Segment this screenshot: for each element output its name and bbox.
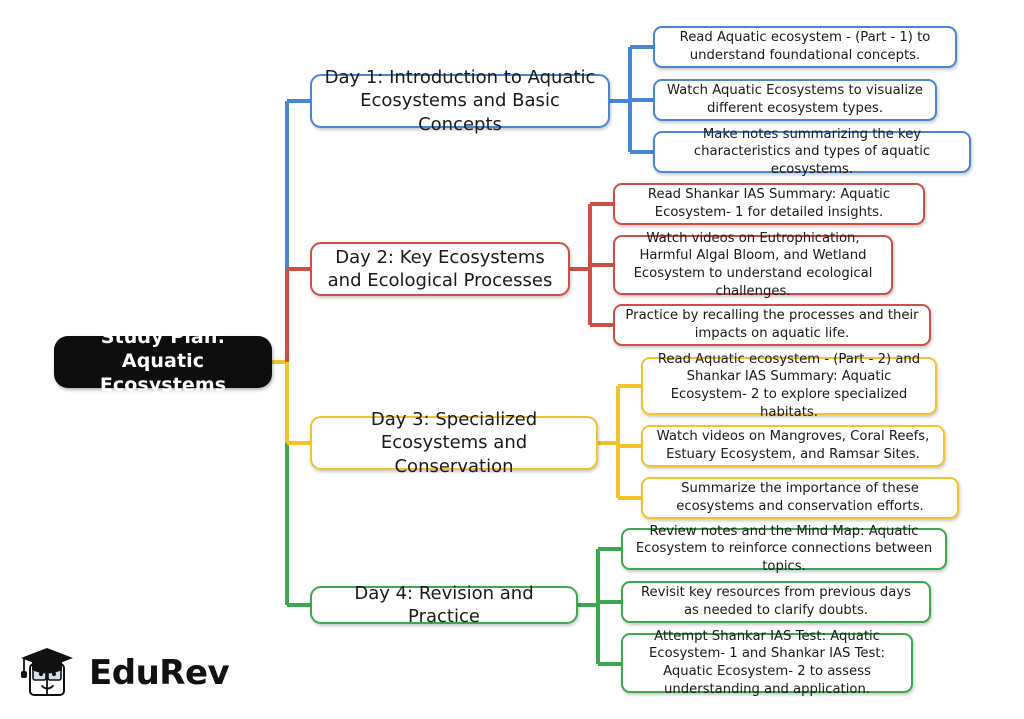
leaf-node-day-2-task-3[interactable]: Practice by recalling the processes and … bbox=[613, 304, 931, 346]
leaf-node-day-1-task-2[interactable]: Watch Aquatic Ecosystems to visualize di… bbox=[653, 79, 937, 121]
leaf-node-day-4-task-2[interactable]: Revisit key resources from previous days… bbox=[621, 581, 931, 623]
branch-node-day-1[interactable]: Day 1: Introduction to Aquatic Ecosystem… bbox=[310, 74, 610, 128]
branch-node-day-3[interactable]: Day 3: Specialized Ecosystems and Conser… bbox=[310, 416, 598, 470]
leaf-node-day-1-task-1[interactable]: Read Aquatic ecosystem - (Part - 1) to u… bbox=[653, 26, 957, 68]
leaf-node-day-2-task-1[interactable]: Read Shankar IAS Summary: Aquatic Ecosys… bbox=[613, 183, 925, 225]
leaf-node-day-3-task-3[interactable]: Summarize the importance of these ecosys… bbox=[641, 477, 959, 519]
leaf-node-day-1-task-3[interactable]: Make notes summarizing the key character… bbox=[653, 131, 971, 173]
leaf-node-day-3-task-2[interactable]: Watch videos on Mangroves, Coral Reefs, … bbox=[641, 425, 945, 467]
branch-node-day-2[interactable]: Day 2: Key Ecosystems and Ecological Pro… bbox=[310, 242, 570, 296]
graduation-cap-book-icon bbox=[18, 642, 80, 704]
leaf-node-day-3-task-1[interactable]: Read Aquatic ecosystem - (Part - 2) and … bbox=[641, 357, 937, 415]
branch-node-day-4[interactable]: Day 4: Revision and Practice bbox=[310, 586, 578, 624]
root-node[interactable]: Study Plan: Aquatic Ecosystems bbox=[54, 336, 272, 388]
edurev-logo[interactable]: EduRev bbox=[18, 642, 229, 704]
mindmap-canvas: Study Plan: Aquatic Ecosystems Day 1: In… bbox=[0, 0, 1024, 719]
edurev-wordmark: EduRev bbox=[89, 656, 229, 690]
leaf-node-day-2-task-2[interactable]: Watch videos on Eutrophication, Harmful … bbox=[613, 235, 893, 295]
leaf-node-day-4-task-1[interactable]: Review notes and the Mind Map: Aquatic E… bbox=[621, 528, 947, 570]
leaf-node-day-4-task-3[interactable]: Attempt Shankar IAS Test: Aquatic Ecosys… bbox=[621, 633, 913, 693]
